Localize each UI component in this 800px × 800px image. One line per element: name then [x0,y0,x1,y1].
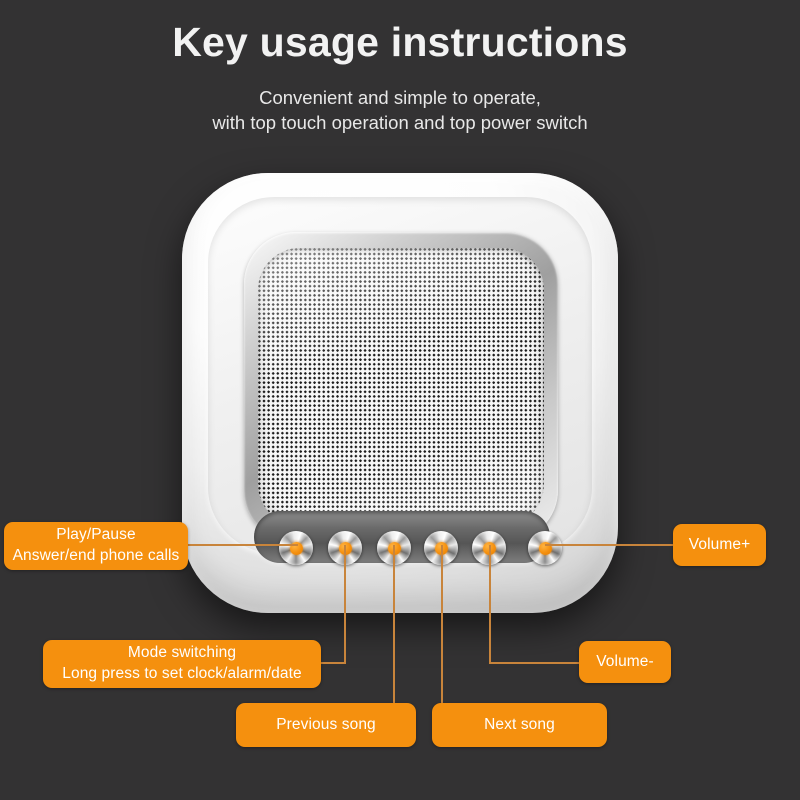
page-subtitle: Convenient and simple to operate, with t… [0,85,800,135]
callout-play-pause-line2: Answer/end phone calls [13,546,180,567]
lead-mode-vertical [344,545,346,664]
callout-volume-down[interactable]: Volume- [579,641,671,683]
subtitle-line-2: with top touch operation and top power s… [0,110,800,135]
play-pause-key[interactable] [279,531,313,565]
callout-play-pause[interactable]: Play/Pause Answer/end phone calls [4,522,188,570]
product-instruction-graphic: Key usage instructions Convenient and si… [0,0,800,800]
lead-volume-down-vertical [489,545,491,664]
subtitle-line-1: Convenient and simple to operate, [0,85,800,110]
lead-volume-down-horizontal [489,662,581,664]
callout-mode-switching[interactable]: Mode switching Long press to set clock/a… [43,640,321,688]
callout-next-song[interactable]: Next song [432,703,607,747]
header: Key usage instructions Convenient and si… [0,0,800,135]
lead-next-song [441,545,443,705]
callout-previous-song[interactable]: Previous song [236,703,416,747]
callout-next-song-label: Next song [484,715,555,736]
lead-play-pause [186,544,298,546]
callout-volume-down-label: Volume- [596,652,654,673]
lead-volume-up [545,544,675,546]
callout-volume-up[interactable]: Volume+ [673,524,766,566]
speaker-device [182,173,618,613]
page-title: Key usage instructions [0,0,800,63]
callout-mode-line1: Mode switching [128,643,236,664]
grille-sheen [258,248,544,526]
perforated-speaker-grille-icon [258,248,544,526]
callout-previous-song-label: Previous song [276,715,376,736]
callout-mode-line2: Long press to set clock/alarm/date [62,664,301,685]
callout-volume-up-label: Volume+ [689,535,750,556]
callout-play-pause-line1: Play/Pause [56,525,135,546]
lead-previous-song [393,545,395,705]
volume-up-key[interactable] [528,531,562,565]
